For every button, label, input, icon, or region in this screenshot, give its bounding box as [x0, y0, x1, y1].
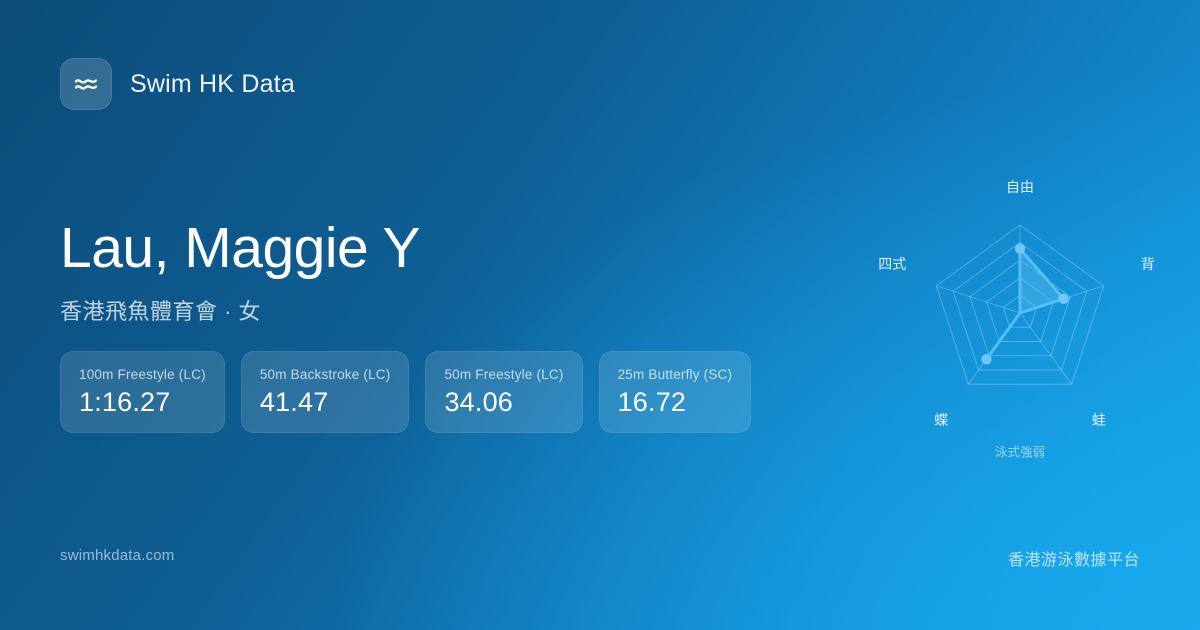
radar-chart-svg — [860, 170, 1180, 470]
radar-axis-label: 蛙 — [1092, 410, 1106, 430]
radar-axis-label: 自由 — [1006, 177, 1034, 197]
wave-icon — [60, 58, 112, 110]
brand-header[interactable]: Swim HK Data — [60, 58, 295, 110]
brand-name: Swim HK Data — [130, 70, 295, 99]
radar-chart-caption: 泳式強弱 — [995, 442, 1045, 461]
page-title: Lau, Maggie Y — [60, 218, 780, 280]
radar-axis-label: 四式 — [878, 254, 906, 274]
stat-card-label: 50m Freestyle (LC) — [444, 367, 563, 382]
athlete-meta: 香港飛魚體育會 · 女 — [60, 294, 780, 326]
stat-card[interactable]: 100m Freestyle (LC) 1:16.27 — [60, 351, 225, 433]
stat-card-value: 16.72 — [618, 389, 733, 416]
footer-tagline: 香港游泳數據平台 — [1008, 546, 1140, 570]
stat-card[interactable]: 25m Butterfly (SC) 16.72 — [599, 351, 752, 433]
radar-axis-label: 蝶 — [934, 410, 948, 430]
stat-card-label: 50m Backstroke (LC) — [260, 367, 391, 382]
radar-chart: 泳式強弱 自由背蛙蝶四式 — [860, 170, 1180, 470]
footer-site-url[interactable]: swimhkdata.com — [60, 547, 175, 564]
stat-card-label: 100m Freestyle (LC) — [79, 367, 206, 382]
stat-card-value: 1:16.27 — [79, 389, 206, 416]
stat-card[interactable]: 50m Freestyle (LC) 34.06 — [425, 351, 582, 433]
stat-card-value: 41.47 — [260, 389, 391, 416]
stat-card-value: 34.06 — [444, 389, 563, 416]
radar-axis-label: 背 — [1141, 254, 1155, 274]
stat-card-list: 100m Freestyle (LC) 1:16.27 50m Backstro… — [60, 351, 751, 433]
hero-section: Lau, Maggie Y 香港飛魚體育會 · 女 — [60, 218, 780, 326]
stat-card[interactable]: 50m Backstroke (LC) 41.47 — [241, 351, 410, 433]
stat-card-label: 25m Butterfly (SC) — [618, 367, 733, 382]
